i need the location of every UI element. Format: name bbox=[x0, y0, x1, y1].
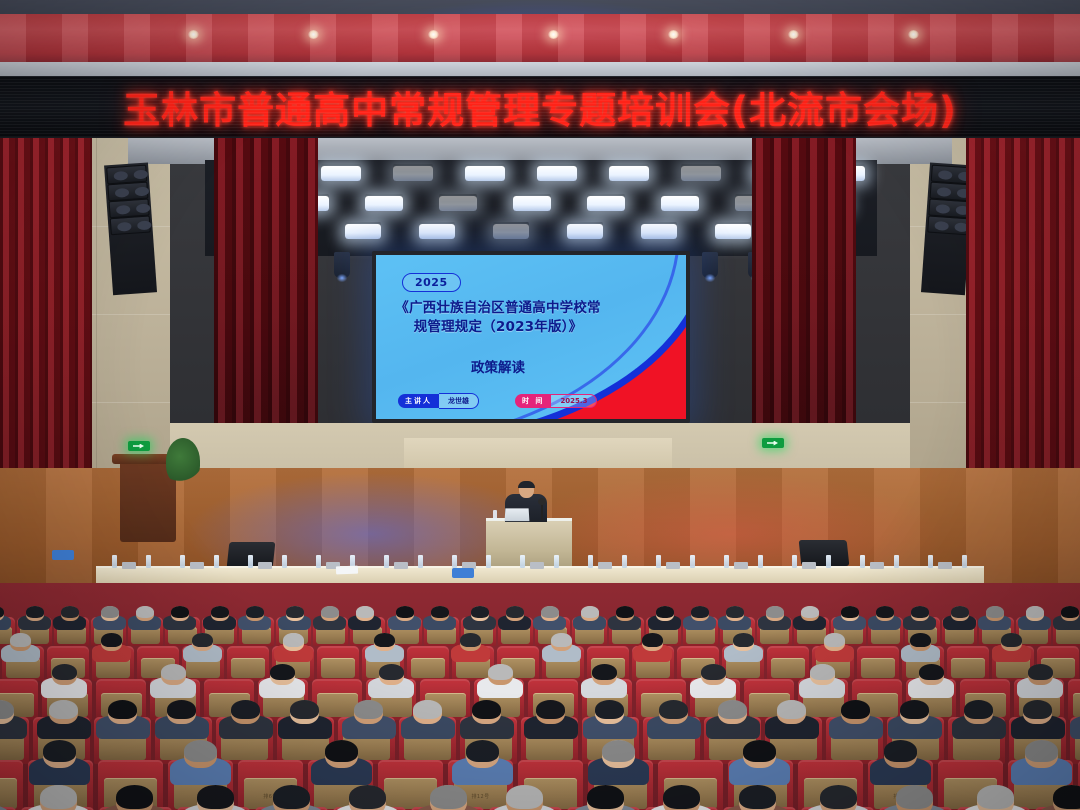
attendee-hair bbox=[270, 664, 295, 680]
stage-light-icon bbox=[661, 196, 699, 211]
attendee-hair bbox=[718, 700, 747, 719]
nameplate bbox=[394, 562, 408, 569]
attendee-hair bbox=[167, 700, 196, 719]
attendee-hair bbox=[841, 700, 870, 719]
attendee-hair bbox=[321, 606, 339, 618]
water-bottle bbox=[214, 555, 219, 568]
attendee-hair bbox=[171, 606, 189, 618]
attendee-hair bbox=[919, 664, 944, 680]
attendee-hair bbox=[211, 606, 229, 618]
attendee-hair bbox=[551, 633, 572, 647]
laptop-icon bbox=[505, 508, 530, 521]
attendee-hair bbox=[101, 606, 119, 618]
parcan-10 bbox=[702, 252, 718, 278]
nameplate bbox=[938, 562, 952, 569]
water-bottle bbox=[928, 555, 933, 568]
attendee-hair bbox=[1061, 606, 1079, 618]
time-value: 2025.3 bbox=[551, 394, 597, 408]
slide-meta-tags: 主讲人 龙世雄 时 间 2025.3 bbox=[398, 393, 597, 409]
attendee-hair bbox=[325, 740, 358, 762]
attendee-hair bbox=[10, 633, 31, 647]
stage-light-icon bbox=[419, 224, 455, 239]
hall: 2025 《广西壮族自治区普通高中学校常 规管理规定（2023年版）》 政策解读… bbox=[0, 138, 1080, 810]
water-bottle bbox=[180, 555, 185, 568]
attendee-hair bbox=[231, 700, 260, 719]
stage-light-icon bbox=[345, 224, 381, 239]
attendee-hair bbox=[986, 606, 1004, 618]
downlight-5 bbox=[668, 30, 679, 39]
attendee-hair bbox=[49, 700, 78, 719]
attendee-hair bbox=[52, 664, 77, 680]
attendee-hair bbox=[430, 785, 467, 809]
blue-box bbox=[452, 568, 474, 578]
water-bottle bbox=[588, 555, 593, 568]
attendee-hair bbox=[739, 785, 776, 809]
water-bottle bbox=[316, 555, 321, 568]
stage-light-icon bbox=[537, 166, 577, 181]
attendee-hair bbox=[876, 606, 894, 618]
nameplate bbox=[122, 562, 136, 569]
water-bottle bbox=[656, 555, 661, 568]
attendee-hair bbox=[884, 740, 917, 762]
attendee-hair bbox=[642, 633, 663, 647]
presenter-label: 主讲人 bbox=[398, 394, 439, 408]
downlight-7 bbox=[908, 30, 919, 39]
auditorium-seat[interactable] bbox=[317, 646, 359, 681]
water-bottle bbox=[520, 555, 525, 568]
attendee-hair bbox=[910, 633, 931, 647]
attendee-hair bbox=[40, 785, 77, 809]
stage-light-icon bbox=[567, 224, 603, 239]
attendee-hair bbox=[506, 606, 524, 618]
attendee-hair bbox=[192, 633, 213, 647]
downlight-1 bbox=[188, 30, 199, 39]
exit-sign-icon-right bbox=[762, 438, 784, 448]
water-bottle bbox=[622, 555, 627, 568]
seat-back bbox=[1073, 693, 1080, 717]
stage-light-icon bbox=[321, 166, 361, 181]
attendee-hair bbox=[900, 700, 929, 719]
downlight-4 bbox=[548, 30, 559, 39]
nameplate bbox=[734, 562, 748, 569]
water-bottle bbox=[690, 555, 695, 568]
parcan-2 bbox=[334, 252, 350, 278]
downlight-6 bbox=[788, 30, 799, 39]
attendee-hair bbox=[541, 606, 559, 618]
attendee-hair bbox=[379, 664, 404, 680]
seat-back bbox=[771, 658, 805, 678]
nameplate bbox=[598, 562, 612, 569]
blue-bag bbox=[52, 550, 74, 560]
water-bottle bbox=[493, 510, 497, 520]
attendee-hair bbox=[472, 700, 501, 719]
stage-light-icon bbox=[365, 196, 403, 211]
speaker-icon-left-inner bbox=[104, 162, 157, 295]
water-bottle bbox=[758, 555, 763, 568]
water-bottle bbox=[792, 555, 797, 568]
attendee-hair bbox=[354, 700, 383, 719]
presenter-tag: 主讲人 龙世雄 bbox=[398, 393, 479, 409]
slide-title: 《广西壮族自治区普通高中学校常 规管理规定（2023年版）》 bbox=[386, 299, 610, 337]
auditorium-seat[interactable] bbox=[407, 646, 449, 681]
presenter-desk bbox=[486, 518, 572, 570]
auditorium-seat[interactable] bbox=[857, 646, 899, 681]
attendee-hair bbox=[116, 785, 153, 809]
attendee-hair bbox=[656, 606, 674, 618]
seat-back bbox=[951, 658, 985, 678]
stage-light-icon bbox=[439, 196, 477, 211]
seat-back bbox=[317, 693, 358, 717]
attendee-hair bbox=[801, 606, 819, 618]
seat-back bbox=[321, 658, 355, 678]
audience-seating: 排11号排6号排12号排9号排4号排10号排6号排12号排9号排4号排10号排1… bbox=[0, 583, 1080, 810]
attendee-hair bbox=[356, 606, 374, 618]
attendee-hair bbox=[466, 740, 499, 762]
attendee-hair bbox=[283, 633, 304, 647]
slide-title-line2: 规管理规定（2023年版）》 bbox=[386, 318, 610, 337]
attendee-hair bbox=[108, 700, 137, 719]
water-bottle bbox=[418, 555, 423, 568]
attendee-hair bbox=[977, 785, 1014, 809]
attendee-hair bbox=[766, 606, 784, 618]
attendee-hair bbox=[349, 785, 386, 809]
attendee-hair bbox=[743, 740, 776, 762]
nameplate bbox=[530, 562, 544, 569]
slide-title-line1: 《广西壮族自治区普通高中学校常 bbox=[386, 299, 610, 318]
time-label: 时 间 bbox=[515, 394, 551, 408]
stage-light-icon bbox=[465, 166, 505, 181]
attendee-hair bbox=[374, 633, 395, 647]
attendee-hair bbox=[61, 606, 79, 618]
attendee-hair bbox=[726, 606, 744, 618]
attendee-hair bbox=[616, 606, 634, 618]
attendee-hair bbox=[1025, 740, 1058, 762]
attendee-hair bbox=[161, 664, 186, 680]
attendee-hair bbox=[911, 606, 929, 618]
attendee-hair bbox=[587, 785, 624, 809]
stage-light-icon bbox=[493, 224, 529, 239]
attendee-hair bbox=[964, 700, 993, 719]
auditorium-seat[interactable] bbox=[227, 646, 269, 681]
water-bottle bbox=[724, 555, 729, 568]
nameplate bbox=[870, 562, 884, 569]
soffit-sheen bbox=[0, 14, 1080, 66]
presenter-name: 龙世雄 bbox=[439, 393, 479, 409]
attendee-hair bbox=[286, 606, 304, 618]
auditorium-seat[interactable] bbox=[0, 760, 23, 810]
led-projection-screen: 2025 《广西壮族自治区普通高中学校常 规管理规定（2023年版）》 政策解读… bbox=[372, 251, 690, 423]
auditorium-seat[interactable] bbox=[767, 646, 809, 681]
water-bottle bbox=[248, 555, 253, 568]
attendee-hair bbox=[136, 606, 154, 618]
attendee-hair bbox=[488, 664, 513, 680]
attendee-hair bbox=[841, 606, 859, 618]
slide-year-badge: 2025 bbox=[402, 273, 461, 292]
attendee-hair bbox=[431, 606, 449, 618]
water-bottle bbox=[486, 555, 491, 568]
stage-light-icon bbox=[513, 196, 551, 211]
attendee-hair bbox=[273, 785, 310, 809]
stage-light-icon bbox=[587, 196, 625, 211]
microphone-icon-desk bbox=[541, 502, 543, 520]
attendee-hair bbox=[1026, 606, 1044, 618]
attendee-hair bbox=[581, 606, 599, 618]
attendee-hair bbox=[691, 606, 709, 618]
attendee-hair bbox=[659, 700, 688, 719]
attendee-hair bbox=[26, 606, 44, 618]
attendee-hair bbox=[101, 633, 122, 647]
nameplate bbox=[666, 562, 680, 569]
attendee-hair bbox=[663, 785, 700, 809]
presentation-slide: 2025 《广西壮族自治区普通高中学校常 规管理规定（2023年版）》 政策解读… bbox=[376, 255, 686, 419]
attendee-hair bbox=[506, 785, 543, 809]
attendee-hair bbox=[595, 700, 624, 719]
water-bottle bbox=[554, 555, 559, 568]
slide-subtitle: 政策解读 bbox=[386, 356, 610, 376]
banner-title: 玉林市普通高中常规管理专题培训会(北流市会场) bbox=[123, 80, 957, 134]
attendee-hair bbox=[896, 785, 933, 809]
attendee-hair bbox=[777, 700, 806, 719]
attendee-hair bbox=[43, 740, 76, 762]
attendee-hair bbox=[471, 606, 489, 618]
attendee-hair bbox=[197, 785, 234, 809]
attendee-hair bbox=[1001, 633, 1022, 647]
stage-light-icon bbox=[641, 224, 677, 239]
water-bottle bbox=[452, 555, 457, 568]
attendee-hair bbox=[733, 633, 754, 647]
seat-back bbox=[231, 658, 265, 678]
seat-back bbox=[861, 658, 895, 678]
attendee-hair bbox=[602, 740, 635, 762]
paper-sheet bbox=[336, 566, 358, 575]
attendee-hair bbox=[184, 740, 217, 762]
water-bottle bbox=[860, 555, 865, 568]
attendee-hair bbox=[592, 664, 617, 680]
presenter-hair bbox=[518, 481, 535, 488]
attendee-hair bbox=[536, 700, 565, 719]
attendee-hair bbox=[824, 633, 845, 647]
nameplate bbox=[258, 562, 272, 569]
time-tag: 时 间 2025.3 bbox=[515, 394, 597, 408]
water-bottle bbox=[962, 555, 967, 568]
downlight-3 bbox=[428, 30, 439, 39]
auditorium-photo: 玉林市普通高中常规管理专题培训会(北流市会场) bbox=[0, 0, 1080, 810]
water-bottle bbox=[384, 555, 389, 568]
led-banner: 玉林市普通高中常规管理专题培训会(北流市会场) bbox=[0, 76, 1080, 138]
attendee-hair bbox=[1028, 664, 1053, 680]
nameplate bbox=[802, 562, 816, 569]
stage-light-icon bbox=[393, 166, 433, 181]
attendee-hair bbox=[246, 606, 264, 618]
water-bottle bbox=[146, 555, 151, 568]
nameplate bbox=[190, 562, 204, 569]
attendee-hair bbox=[1023, 700, 1052, 719]
attendee-hair bbox=[820, 785, 857, 809]
seat-number: 排12号 bbox=[472, 793, 490, 800]
seat-back bbox=[0, 778, 17, 809]
attendee-hair bbox=[413, 700, 442, 719]
attendee-hair bbox=[396, 606, 414, 618]
attendee-hair bbox=[951, 606, 969, 618]
attendee-hair bbox=[1053, 785, 1080, 809]
water-bottle bbox=[894, 555, 899, 568]
stage-plant bbox=[166, 438, 200, 484]
attendee-hair bbox=[290, 700, 319, 719]
attendee-hair bbox=[701, 664, 726, 680]
attendee-hair bbox=[460, 633, 481, 647]
auditorium-seat[interactable] bbox=[947, 646, 989, 681]
water-bottle bbox=[826, 555, 831, 568]
downlight-2 bbox=[308, 30, 319, 39]
auditorium-seat[interactable] bbox=[1068, 679, 1080, 720]
water-bottle bbox=[112, 555, 117, 568]
water-bottle bbox=[282, 555, 287, 568]
stage-light-icon bbox=[681, 166, 721, 181]
stage-light-icon bbox=[609, 166, 649, 181]
stage-light-icon bbox=[715, 224, 751, 239]
exit-sign-icon-left bbox=[128, 441, 150, 451]
attendee-hair bbox=[810, 664, 835, 680]
seat-back bbox=[411, 658, 445, 678]
